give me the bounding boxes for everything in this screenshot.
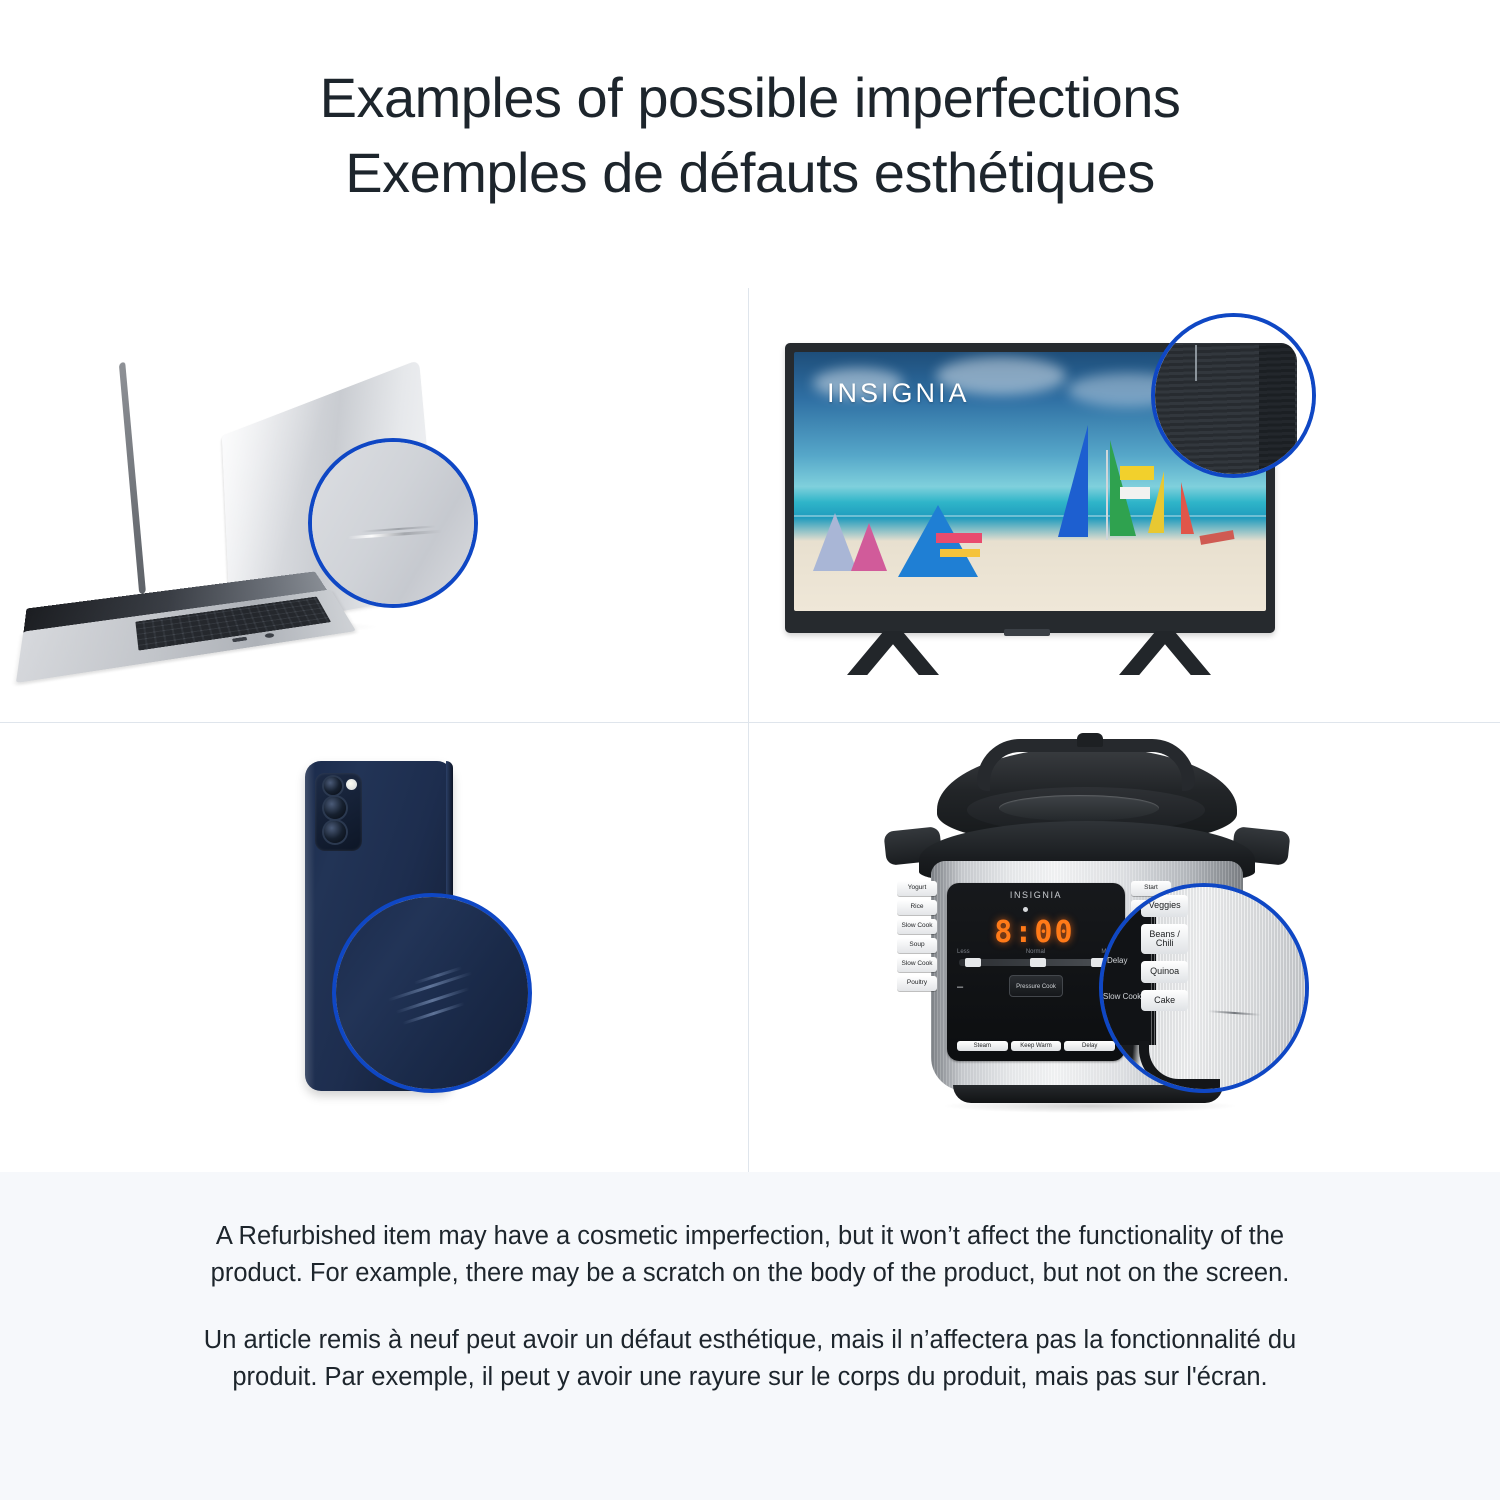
magnified-label-delay: Delay (1107, 956, 1127, 965)
button-soup[interactable]: Soup (897, 938, 937, 953)
cooker-left-button-column: Yogurt Rice Slow Cook Soup Slow Cook Pou… (897, 881, 937, 991)
laptop-illustration (0, 288, 748, 722)
tv-stand-right (1119, 631, 1211, 675)
beach-sail-stripe (936, 533, 982, 543)
camera-lens-icon (324, 777, 342, 795)
footer-paragraph-french: Un article remis à neuf peut avoir un dé… (175, 1322, 1325, 1396)
mast (1106, 450, 1108, 540)
pressure-cook-button[interactable]: Pressure Cook (1009, 975, 1063, 997)
tv-logo-bar (1004, 629, 1050, 636)
product-examples-grid: INSIGNIA (0, 288, 1500, 1172)
camera-lens-icon (324, 821, 346, 843)
button-yogurt[interactable]: Yogurt (897, 881, 937, 896)
tv-brand-label: INSIGNIA (827, 378, 970, 409)
cooker-display: 8:00 (994, 915, 1074, 950)
beach-sail-pink (851, 523, 887, 571)
magnifier-circle-television (1151, 313, 1316, 478)
slider-label-normal: Normal (1026, 949, 1045, 955)
phone-edge-highlight (305, 761, 315, 1091)
button-keep-warm[interactable]: Keep Warm (1011, 1041, 1062, 1051)
magnified-button-stack: Veggies Beans / Chili Quinoa Cake (1141, 895, 1187, 1011)
cooker-steam-valve-icon (1077, 733, 1103, 747)
magnified-button-cake[interactable]: Cake (1141, 990, 1187, 1011)
button-steam[interactable]: Steam (957, 1041, 1008, 1051)
cooker-bottom-button-row: Steam Keep Warm Delay (957, 1041, 1115, 1051)
slider-label-less: Less (957, 949, 970, 955)
sailboat-yellow (1148, 471, 1164, 533)
beach-sail-stripe (940, 549, 980, 557)
laptop-lid-edge (119, 361, 146, 594)
magnified-button-veggies[interactable]: Veggies (1141, 895, 1187, 916)
pressure-level-slider[interactable] (959, 959, 1113, 966)
magnifier-circle-smartphone (332, 893, 532, 1093)
magnified-tv-bezel-side (1259, 343, 1295, 478)
slider-labels: Less Normal More (957, 949, 1115, 955)
magnifier-surface-laptop (312, 442, 474, 604)
grid-cell-laptop (0, 288, 748, 722)
title-english: Examples of possible imperfections (0, 60, 1500, 135)
sailboat-red (1181, 482, 1194, 534)
magnified-label-slow-cook: Slow Cook (1103, 992, 1141, 1001)
camera-flash-icon (346, 779, 357, 790)
tv-scratch (1195, 345, 1197, 381)
usb-c-port-icon (232, 637, 247, 643)
magnifier-circle-pressure-cooker: Delay Slow Cook Veggies Beans / Chili Qu… (1099, 883, 1309, 1093)
cooker-control-panel: INSIGNIA 8:00 Less Normal More (947, 883, 1125, 1061)
tv-stand-left (847, 631, 939, 675)
sailboat-blue (1058, 425, 1088, 537)
grid-cell-smartphone (0, 723, 748, 1172)
headphone-jack-icon (264, 633, 275, 639)
television-illustration: INSIGNIA (749, 288, 1500, 722)
camera-module (315, 773, 362, 851)
grid-cell-pressure-cooker: INSIGNIA 8:00 Less Normal More (749, 723, 1500, 1172)
status-led-icon (1023, 907, 1028, 912)
beach-gear (1199, 530, 1234, 545)
button-rice[interactable]: Rice (897, 900, 937, 915)
title-french: Exemples de défauts esthétiques (0, 135, 1500, 210)
minus-button[interactable]: – (957, 981, 963, 993)
pressure-cooker-illustration: INSIGNIA 8:00 Less Normal More (749, 723, 1500, 1172)
cooker-lid-panel (999, 795, 1159, 821)
camera-lens-icon (324, 797, 346, 819)
button-slow-cook-2[interactable]: Slow Cook (897, 957, 937, 972)
grid-cell-television: INSIGNIA (749, 288, 1500, 722)
button-slow-cook[interactable]: Slow Cook (897, 919, 937, 934)
footer-paragraph-english: A Refurbished item may have a cosmetic i… (175, 1218, 1325, 1292)
page-title: Examples of possible imperfections Exemp… (0, 60, 1500, 210)
cooker-brand-label: INSIGNIA (947, 890, 1125, 900)
horizon-line (794, 515, 1266, 517)
magnified-button-quinoa[interactable]: Quinoa (1141, 961, 1187, 982)
smartphone-illustration (0, 723, 748, 1172)
magnifier-surface-smartphone (336, 897, 528, 1089)
refurbished-imperfections-infographic: Examples of possible imperfections Exemp… (0, 0, 1500, 1500)
button-poultry[interactable]: Poultry (897, 976, 937, 991)
sail-stripe-white (1120, 487, 1150, 499)
magnified-button-beans-chili[interactable]: Beans / Chili (1141, 924, 1187, 955)
magnifier-circle-laptop (308, 438, 478, 608)
footer-description: A Refurbished item may have a cosmetic i… (0, 1172, 1500, 1500)
